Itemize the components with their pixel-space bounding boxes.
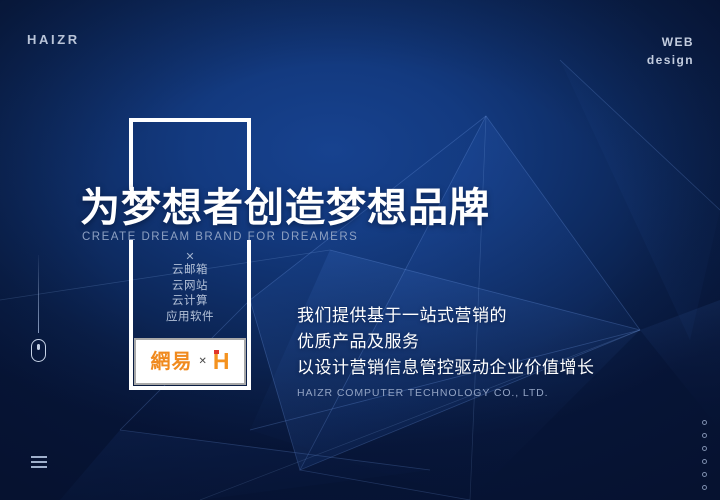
service-item-cloud-mail[interactable]: 云邮箱 [129, 263, 251, 279]
hero-headline: 为梦想者创造梦想品牌 [80, 186, 490, 230]
pagination-dot-1[interactable] [702, 420, 707, 425]
service-item-cloud-website[interactable]: 云网站 [129, 279, 251, 295]
service-list: 云邮箱 云网站 云计算 应用软件 [129, 263, 251, 325]
low-poly-background [0, 0, 720, 500]
body-copy-block: 我们提供基于一站式营销的 优质产品及服务 以设计营销信息管控驱动企业价值增长 H… [297, 303, 595, 399]
netease-wordmark: 網易 [150, 352, 192, 372]
copy-line-3: 以设计营销信息管控驱动企业价值增长 [297, 355, 595, 381]
brand-logo[interactable]: HAIZR [27, 32, 80, 47]
haizr-h-logo-icon: H [213, 350, 230, 373]
pagination-dots[interactable] [702, 420, 707, 498]
mouse-wheel-dot [37, 344, 40, 350]
pagination-dot-2[interactable] [702, 433, 707, 438]
slide-canvas: HAIZR WEB design 为梦想者创造梦想品牌 CREATE DREAM… [0, 0, 720, 500]
service-item-applications[interactable]: 应用软件 [129, 310, 251, 326]
frame-bar-left-upper [129, 118, 133, 190]
tagline-line-2: design [647, 51, 694, 69]
copy-line-1: 我们提供基于一站式营销的 [297, 303, 595, 329]
pagination-dot-6[interactable] [702, 485, 707, 490]
partner-logo-card[interactable]: 網易 ✕ H [134, 338, 246, 385]
company-legal-name: HAIZR COMPUTER TECHNOLOGY CO., LTD. [297, 387, 595, 399]
hero-subheadline: CREATE DREAM BRAND FOR DREAMERS [82, 231, 358, 243]
hamburger-line-1 [31, 456, 47, 458]
tagline-line-1: WEB [647, 33, 694, 51]
scroll-rail-line [38, 255, 39, 333]
frame-bar-right-upper [247, 118, 251, 190]
frame-bar-top [129, 118, 251, 122]
cross-separator-icon: ✕ [129, 250, 251, 263]
hamburger-line-3 [31, 466, 47, 468]
hamburger-line-2 [31, 461, 47, 463]
hamburger-menu-icon[interactable] [31, 456, 47, 471]
copy-line-2: 优质产品及服务 [297, 329, 595, 355]
logo-cross-icon: ✕ [198, 356, 206, 367]
mouse-scroll-icon[interactable] [31, 339, 46, 362]
haizr-logo-dot [214, 350, 219, 354]
service-item-cloud-computing[interactable]: 云计算 [129, 294, 251, 310]
vignette-overlay [0, 0, 720, 500]
tagline-block: WEB design [647, 33, 694, 69]
frame-bar-bottom [129, 386, 251, 390]
pagination-dot-5[interactable] [702, 472, 707, 477]
pagination-dot-4[interactable] [702, 459, 707, 464]
pagination-dot-3[interactable] [702, 446, 707, 451]
